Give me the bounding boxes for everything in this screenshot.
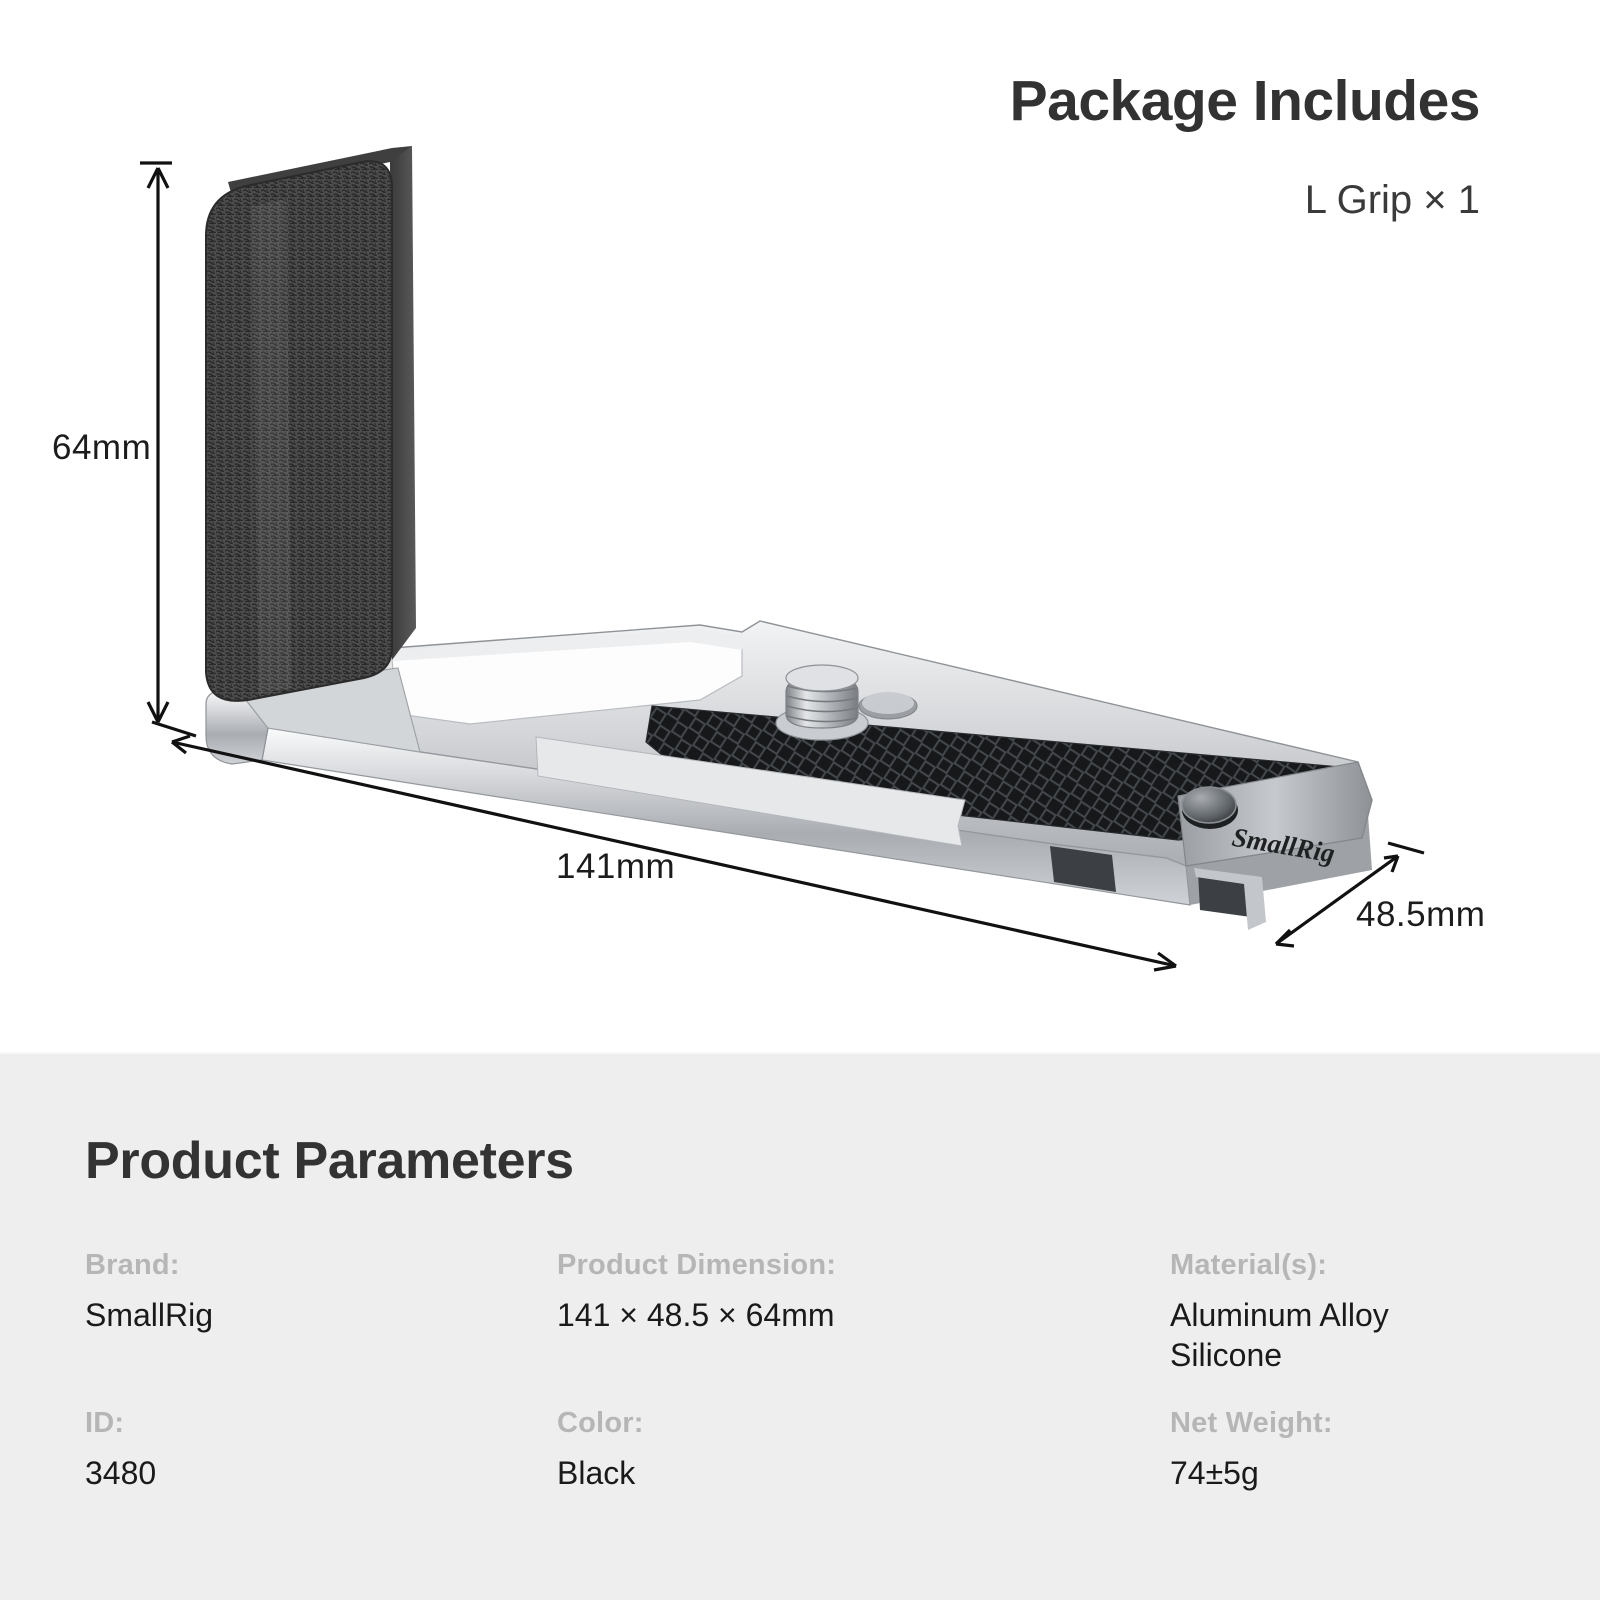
- parameter-value: SmallRig: [85, 1295, 213, 1335]
- package-includes-item: L Grip × 1: [1305, 178, 1480, 223]
- product-parameters-heading: Product Parameters: [85, 1131, 574, 1191]
- parameter-cell: Brand:SmallRig: [85, 1249, 213, 1335]
- dimension-label-length: 141mm: [556, 847, 675, 887]
- parameter-label: Product Dimension:: [557, 1249, 836, 1282]
- product-parameters-grid: Brand:SmallRigProduct Dimension:141 × 48…: [85, 1249, 1515, 1565]
- grip-highlight: [252, 199, 292, 694]
- parameter-cell: Color:Black: [557, 1407, 644, 1493]
- parameter-value: 74±5g: [1170, 1453, 1333, 1493]
- package-includes-heading: Package Includes: [1010, 68, 1480, 134]
- package-includes-section: SmallRig: [0, 0, 1600, 1052]
- parameter-label: Color:: [557, 1407, 644, 1440]
- parameter-row: ID:3480Color:BlackNet Weight:74±5g: [85, 1407, 1515, 1565]
- parameter-cell: Product Dimension:141 × 48.5 × 64mm: [557, 1249, 836, 1335]
- grip-silicone-body: [206, 161, 392, 701]
- grip-right-side: [390, 146, 416, 660]
- parameter-cell: Net Weight:74±5g: [1170, 1407, 1333, 1493]
- locating-button: [1182, 787, 1236, 823]
- parameter-cell: Material(s):Aluminum AlloySilicone: [1170, 1249, 1389, 1376]
- parameter-label: ID:: [85, 1407, 156, 1440]
- screw-head-top: [786, 665, 858, 691]
- product-parameters-section: Product Parameters Brand:SmallRigProduct…: [0, 1052, 1600, 1600]
- parameter-cell: ID:3480: [85, 1407, 156, 1493]
- dimension-label-depth: 48.5mm: [1356, 895, 1485, 935]
- parameter-label: Material(s):: [1170, 1249, 1389, 1282]
- parameter-label: Brand:: [85, 1249, 213, 1282]
- dimension-label-height: 64mm: [52, 428, 151, 468]
- parameter-label: Net Weight:: [1170, 1407, 1333, 1440]
- parameter-value: Aluminum AlloySilicone: [1170, 1295, 1389, 1376]
- parameter-value: Black: [557, 1453, 644, 1493]
- counterbore-inner: [862, 692, 914, 714]
- parameter-value: 3480: [85, 1453, 156, 1493]
- parameter-row: Brand:SmallRigProduct Dimension:141 × 48…: [85, 1249, 1515, 1407]
- parameter-value: 141 × 48.5 × 64mm: [557, 1295, 836, 1335]
